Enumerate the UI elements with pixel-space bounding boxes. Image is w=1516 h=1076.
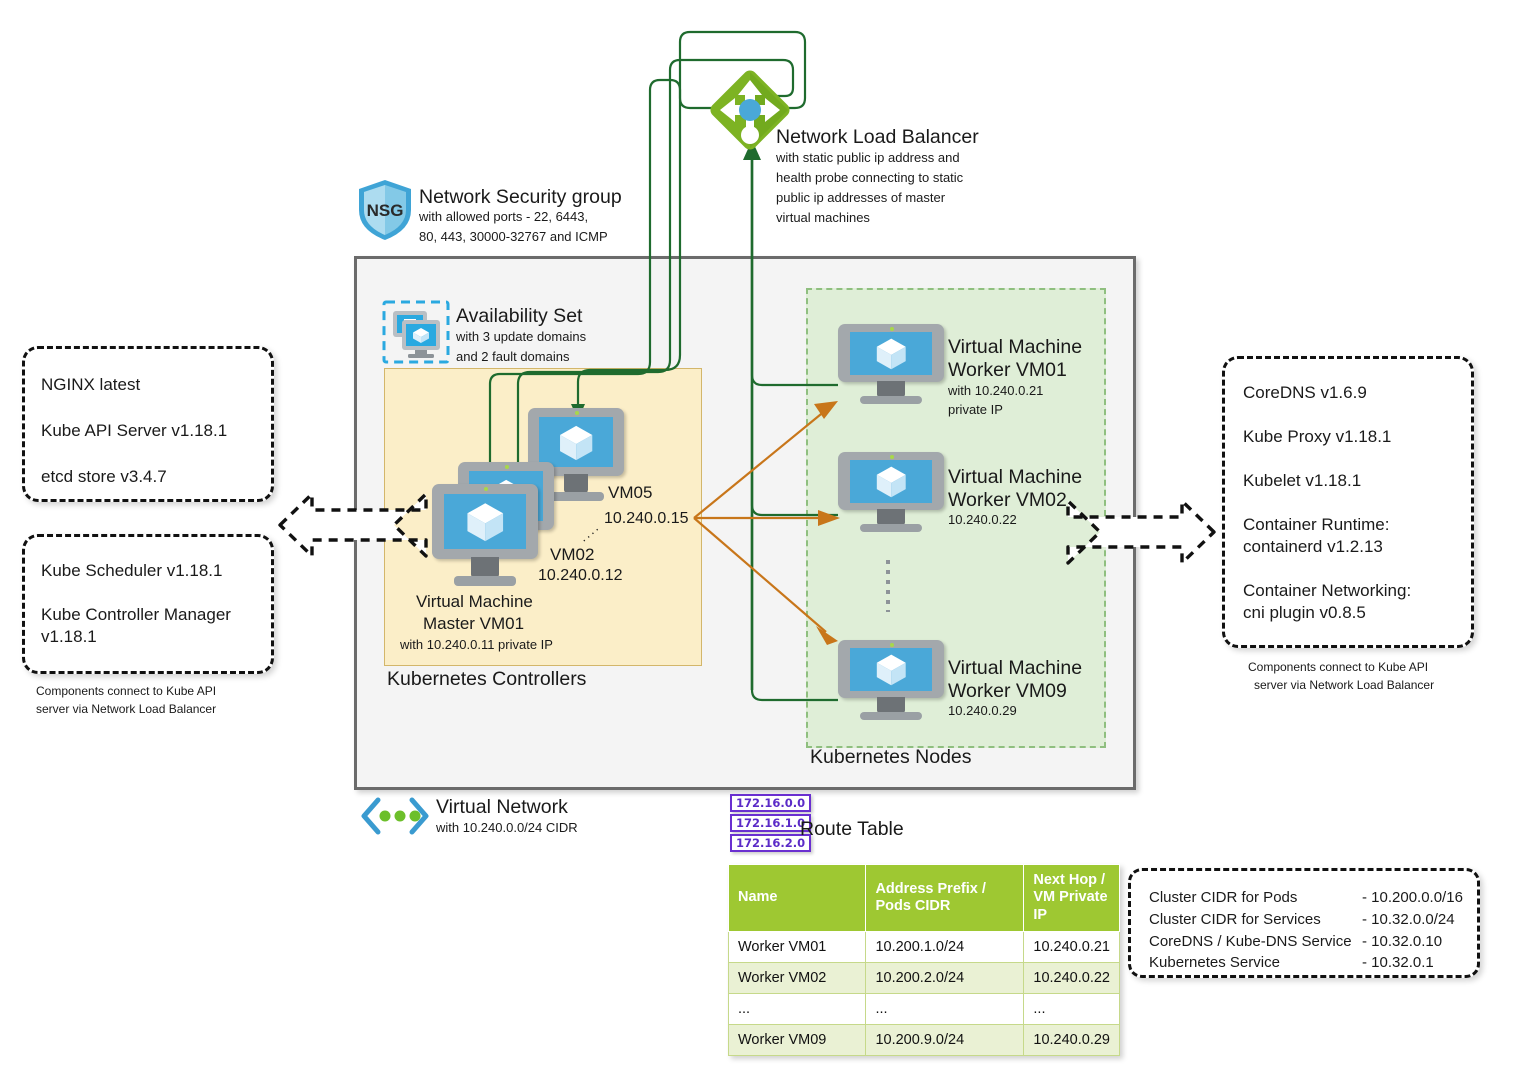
controller-vm05-name: VM05 (608, 483, 652, 503)
route-badge: 172.16.0.0 (730, 794, 811, 812)
column-header-line-2: VM Private IP (1033, 889, 1107, 922)
controller-vm02-ip: 10.240.0.12 (538, 567, 623, 586)
callout-line: v1.18.1 (41, 627, 97, 647)
callout-line: Container Networking: (1243, 581, 1411, 601)
cidr-value: - 10.32.0.0/24 (1362, 909, 1455, 931)
left-footnote-line-1: Components connect to Kube API (36, 684, 216, 698)
worker-vm01-title-line-2: Worker VM01 (948, 359, 1067, 382)
cidr-key: Cluster CIDR for Services (1149, 909, 1362, 931)
nsg-desc-line-1: with allowed ports - 22, 6443, (419, 209, 588, 224)
cube-glyph (463, 498, 508, 544)
cell-name: Worker VM01 (729, 932, 866, 963)
availability-set-title: Availability Set (456, 305, 582, 328)
column-header-line-1: Address Prefix / (875, 881, 985, 897)
cell-prefix: 10.200.2.0/24 (866, 963, 1024, 994)
worker-vm09-title-line-2: Worker VM09 (948, 680, 1067, 703)
callout-line: CoreDNS v1.6.9 (1243, 383, 1367, 403)
cluster-cidr-callout: Cluster CIDR for Pods - 10.200.0.0/16 Cl… (1128, 868, 1480, 978)
callout-line: cni plugin v0.8.5 (1243, 603, 1366, 623)
column-header-address-prefix: Address Prefix / Pods CIDR (866, 865, 1024, 932)
right-footnote-line-2: server via Network Load Balancer (1254, 678, 1434, 692)
load-balancer-title: Network Load Balancer (776, 126, 979, 149)
cell-nexthop: 10.240.0.22 (1024, 963, 1120, 994)
worker-vm01-desc-line-1: with 10.240.0.21 (948, 383, 1043, 398)
worker-vm09-title-line-1: Virtual Machine (948, 657, 1082, 680)
route-table-title: Route Table (800, 818, 904, 841)
cidr-value: - 10.200.0.0/16 (1362, 887, 1463, 909)
cidr-key: Cluster CIDR for Pods (1149, 887, 1362, 909)
load-balancer-desc-line-4: virtual machines (776, 210, 870, 225)
cell-nexthop: 10.240.0.21 (1024, 932, 1120, 963)
load-balancer-desc-line-2: health probe connecting to static (776, 170, 963, 185)
cidr-value: - 10.32.0.10 (1362, 931, 1442, 953)
cell-name: ... (729, 994, 866, 1025)
callout-line: Kube Controller Manager (41, 605, 231, 625)
callout-line: Kube Proxy v1.18.1 (1243, 427, 1391, 447)
left-bidirectional-arrow (278, 480, 428, 570)
availability-set-desc-line-2: and 2 fault domains (456, 349, 569, 364)
controller-vm01-title-line-1: Virtual Machine (416, 592, 533, 612)
controller-vm01-icon (432, 484, 538, 594)
route-table: Name Address Prefix / Pods CIDR Next Hop… (728, 864, 1120, 1056)
right-bidirectional-arrow (1066, 487, 1216, 577)
shield-icon: NSG (356, 178, 414, 242)
virtual-network-title: Virtual Network (436, 796, 568, 819)
worker-vm02-icon (838, 452, 944, 538)
table-row: Worker VM01 10.200.1.0/24 10.240.0.21 (729, 932, 1120, 963)
cube-glyph (869, 463, 914, 499)
worker-vm02-title-line-2: Worker VM02 (948, 489, 1067, 512)
table-row: Worker VM02 10.200.2.0/24 10.240.0.22 (729, 963, 1120, 994)
controller-vm01-title-line-2: Master VM01 (423, 614, 524, 634)
master-components-callout-1: NGINX latest Kube API Server v1.18.1 etc… (22, 346, 274, 502)
table-row: ... ... ... (729, 994, 1120, 1025)
nsg-title: Network Security group (419, 186, 622, 209)
table-row: Worker VM09 10.200.9.0/24 10.240.0.29 (729, 1025, 1120, 1056)
cidr-row: Cluster CIDR for Pods - 10.200.0.0/16 (1149, 887, 1463, 909)
virtual-network-icon (358, 794, 432, 838)
callout-line: etcd store v3.4.7 (41, 467, 167, 487)
virtual-network-desc: with 10.240.0.0/24 CIDR (436, 820, 578, 835)
right-footnote-line-1: Components connect to Kube API (1248, 660, 1428, 674)
column-header-next-hop: Next Hop / VM Private IP (1024, 865, 1120, 932)
callout-line: Container Runtime: (1243, 515, 1389, 535)
callout-line: containerd v1.2.13 (1243, 537, 1383, 557)
cidr-key: Kubernetes Service (1149, 952, 1362, 974)
route-badge: 172.16.1.0 (730, 814, 811, 832)
cidr-row: Kubernetes Service - 10.32.0.1 (1149, 952, 1463, 974)
worker-vm01-title-line-1: Virtual Machine (948, 336, 1082, 359)
controller-vm02-name: VM02 (550, 545, 594, 565)
cell-name: Worker VM02 (729, 963, 866, 994)
cube-glyph (869, 651, 914, 687)
cidr-row: Cluster CIDR for Services - 10.32.0.0/24 (1149, 909, 1463, 931)
master-components-callout-2: Kube Scheduler v1.18.1 Kube Controller M… (22, 534, 274, 674)
cell-prefix: 10.200.1.0/24 (866, 932, 1024, 963)
callout-line: Kubelet v1.18.1 (1243, 471, 1361, 491)
nodes-ellipsis (886, 560, 890, 612)
worker-vm02-title-line-1: Virtual Machine (948, 466, 1082, 489)
load-balancer-desc-line-3: public ip addresses of master (776, 190, 945, 205)
cidr-row: CoreDNS / Kube-DNS Service - 10.32.0.10 (1149, 931, 1463, 953)
nsg-desc-line-2: 80, 443, 30000-32767 and ICMP (419, 229, 608, 244)
worker-components-callout: CoreDNS v1.6.9 Kube Proxy v1.18.1 Kubele… (1222, 356, 1474, 648)
nsg-badge-text: NSG (367, 201, 404, 220)
cube-glyph (556, 421, 596, 463)
availability-set-desc-line-1: with 3 update domains (456, 329, 586, 344)
cell-prefix: ... (866, 994, 1024, 1025)
cidr-value: - 10.32.0.1 (1362, 952, 1434, 974)
route-badge: 172.16.2.0 (730, 834, 811, 852)
worker-vm01-icon (838, 324, 944, 410)
cell-nexthop: ... (1024, 994, 1120, 1025)
load-balancer-desc-line-1: with static public ip address and (776, 150, 960, 165)
availability-set-icon (382, 300, 450, 364)
cell-prefix: 10.200.9.0/24 (866, 1025, 1024, 1056)
worker-vm02-desc-line-1: 10.240.0.22 (948, 512, 1017, 527)
column-header-line-1: Next Hop / (1033, 872, 1105, 888)
callout-line: Kube Scheduler v1.18.1 (41, 561, 222, 581)
controller-vm01-desc: with 10.240.0.11 private IP (400, 637, 553, 652)
callout-line: Kube API Server v1.18.1 (41, 421, 227, 441)
worker-vm09-desc-line-1: 10.240.0.29 (948, 703, 1017, 718)
kubernetes-nodes-label: Kubernetes Nodes (810, 746, 972, 769)
cell-name: Worker VM09 (729, 1025, 866, 1056)
callout-line: NGINX latest (41, 375, 140, 395)
cidr-key: CoreDNS / Kube-DNS Service (1149, 931, 1362, 953)
controller-vm05-ip: 10.240.0.15 (604, 510, 689, 529)
worker-vm09-icon (838, 640, 944, 726)
table-header-row: Name Address Prefix / Pods CIDR Next Hop… (729, 865, 1120, 932)
cube-glyph (869, 335, 914, 371)
kubernetes-controllers-label: Kubernetes Controllers (387, 668, 586, 691)
route-cidr-badges: 172.16.0.0 172.16.1.0 172.16.2.0 (730, 794, 811, 854)
left-footnote-line-2: server via Network Load Balancer (36, 702, 216, 716)
column-header-name: Name (729, 865, 866, 932)
worker-vm01-desc-line-2: private IP (948, 402, 1003, 417)
column-header-line-2: Pods CIDR (875, 898, 950, 914)
cell-nexthop: 10.240.0.29 (1024, 1025, 1120, 1056)
